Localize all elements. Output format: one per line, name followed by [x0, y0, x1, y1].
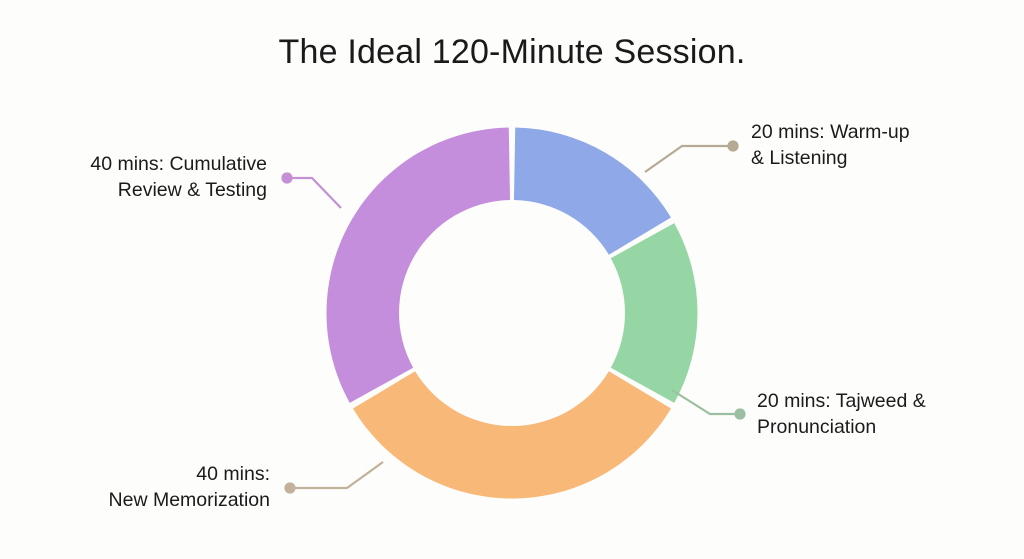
leader-line-tajweed-pronunciation — [672, 390, 740, 414]
slice-cumulative-review-testing[interactable] — [327, 128, 511, 403]
callout-new-memorization-line2: New Memorization — [109, 488, 270, 514]
chart-title: The Ideal 120-Minute Session. — [0, 33, 1024, 72]
leader-dot-new-memorization — [284, 482, 295, 493]
leader-dot-cumulative-review-testing — [281, 172, 292, 183]
leader-line-warm-up-listening — [645, 146, 733, 172]
callout-tajweed-pronunciation-line2: Pronunciation — [757, 415, 926, 441]
leader-dot-tajweed-pronunciation — [734, 408, 745, 419]
callout-tajweed-pronunciation: 20 mins: Tajweed & Pronunciation — [757, 389, 926, 441]
callout-cumulative-review-testing: 40 mins: Cumulative Review & Testing — [90, 152, 267, 204]
callout-new-memorization: 40 mins: New Memorization — [109, 462, 270, 514]
callout-new-memorization-line1: 40 mins: — [109, 462, 270, 488]
callout-warm-up-listening-line1: 20 mins: Warm-up — [751, 120, 910, 146]
callout-cumulative-review-testing-line1: 40 mins: Cumulative — [90, 152, 267, 178]
callout-warm-up-listening: 20 mins: Warm-up & Listening — [751, 120, 910, 172]
donut-chart-figure: The Ideal 120-Minute Session. — [0, 0, 1024, 559]
leader-line-cumulative-review-testing — [287, 178, 341, 208]
callout-tajweed-pronunciation-line1: 20 mins: Tajweed & — [757, 389, 926, 415]
donut-slices — [327, 128, 698, 499]
slice-tajweed-pronunciation[interactable] — [611, 223, 698, 403]
slice-warm-up-listening[interactable] — [514, 128, 671, 255]
leader-line-new-memorization — [290, 462, 383, 488]
leader-dot-warm-up-listening — [727, 140, 738, 151]
slice-new-memorization[interactable] — [353, 371, 671, 498]
callout-warm-up-listening-line2: & Listening — [751, 146, 910, 172]
callout-cumulative-review-testing-line2: Review & Testing — [90, 178, 267, 204]
